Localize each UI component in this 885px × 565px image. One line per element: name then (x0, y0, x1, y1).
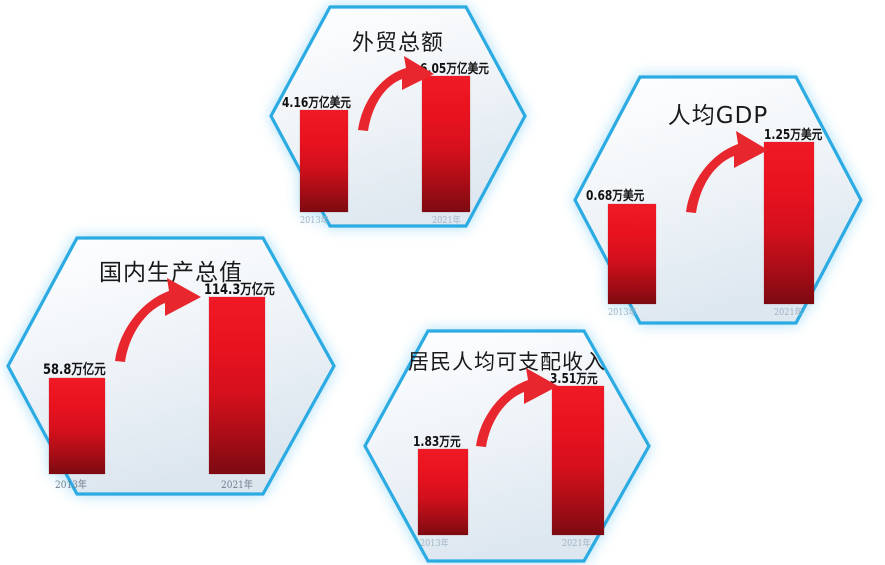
bar-value-2013-disposable-income: 1.83万元 (413, 431, 461, 450)
bar-2013-gdp-per-capita (608, 204, 656, 304)
bar-year-2013-foreign-trade: 2013年 (300, 213, 329, 226)
bar-value-2021-gdp: 114.3万亿元 (204, 279, 275, 299)
bar-year-2021-gdp: 2021年 (221, 476, 253, 491)
bar-year-2013-gdp-per-capita: 2013年 (608, 305, 637, 318)
panel-title-disposable-income: 居民人均可支配收入 (362, 346, 652, 376)
growth-arrow-icon (676, 126, 772, 216)
bar-value-2021-disposable-income: 3.51万元 (550, 368, 598, 387)
bar-year-2013-gdp: 2013年 (55, 476, 87, 491)
bar-2021-disposable-income (552, 386, 604, 535)
bar-year-2021-foreign-trade: 2021年 (432, 213, 461, 226)
bar-year-2021-gdp-per-capita: 2021年 (774, 305, 803, 318)
panel-title-gross-domestic-product: 国内生产总值 (5, 253, 337, 287)
bar-2021-gdp (209, 297, 265, 474)
panel-foreign-trade[interactable]: 外贸总额 4.16万亿美元 2013年 6.05万亿美元 2021年 (268, 4, 528, 230)
panel-disposable-income[interactable]: 居民人均可支配收入 1.83万元 2013年 3.51万元 2021年 (362, 328, 652, 564)
growth-arrow-icon (466, 366, 560, 450)
bar-value-2021-gdp-per-capita: 1.25万美元 (764, 124, 822, 143)
infographic-canvas: 外贸总额 4.16万亿美元 2013年 6.05万亿美元 2021年 (0, 0, 885, 565)
bar-value-2021-foreign-trade: 6.05万亿美元 (420, 58, 489, 77)
panel-gdp-per-capita[interactable]: 人均GDP 0.68万美元 2013年 1.25万美元 2021年 (572, 74, 864, 326)
bar-2021-foreign-trade (422, 76, 470, 212)
bar-2013-foreign-trade (300, 110, 348, 212)
bar-value-2013-foreign-trade: 4.16万亿美元 (282, 92, 351, 111)
bar-2013-gdp (49, 378, 105, 474)
panel-title-foreign-trade: 外贸总额 (268, 25, 528, 57)
bar-year-2013-disposable-income: 2013年 (420, 536, 449, 549)
growth-arrow-icon (105, 275, 205, 365)
bar-2021-gdp-per-capita (764, 142, 814, 304)
bar-value-2013-gdp-per-capita: 0.68万美元 (586, 185, 644, 204)
bar-value-2013-gdp: 58.8万亿元 (43, 359, 106, 379)
bar-2013-disposable-income (418, 449, 468, 535)
bar-year-2021-disposable-income: 2021年 (562, 536, 591, 549)
panel-gross-domestic-product[interactable]: 国内生产总值 58.8万亿元 2013年 114.3万亿元 2021年 (5, 235, 337, 497)
